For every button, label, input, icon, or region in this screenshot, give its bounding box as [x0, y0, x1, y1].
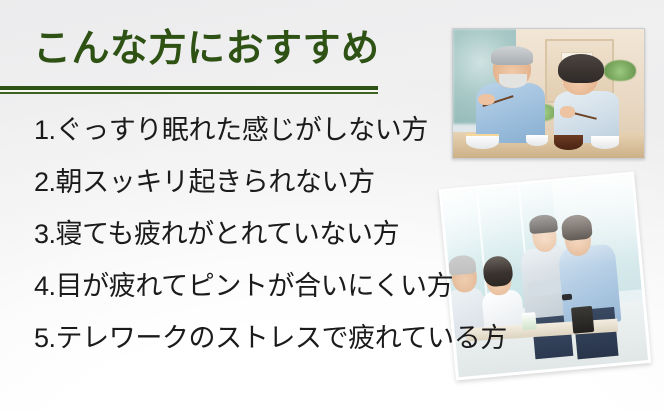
list-item: 3. 寝ても疲れがとれていない方: [0, 208, 620, 260]
underline-thin: [0, 92, 378, 94]
page-title: こんな方におすすめ: [0, 25, 400, 71]
list-item-number: 2.: [34, 156, 56, 208]
list-item-number: 3.: [34, 208, 56, 260]
list-item-label: 目が疲れてピントが合いにくい方: [56, 261, 454, 313]
list-item: 5. テレワークのストレスで疲れている方: [0, 312, 620, 364]
list-item-label: ぐっすり眠れた感じがしない方: [56, 105, 428, 157]
list-item-label: 寝ても疲れがとれていない方: [56, 209, 400, 261]
list-item-label: テレワークのストレスで疲れている方: [56, 313, 507, 365]
list-item: 4. 目が疲れてピントが合いにくい方: [0, 260, 620, 312]
title-block: こんな方におすすめ: [0, 25, 400, 71]
recommendation-list: 1. ぐっすり眠れた感じがしない方 2. 朝スッキリ起きられない方 3. 寝ても…: [0, 104, 620, 364]
recommendation-banner: こんな方におすすめ 1. ぐっすり眠れた感じがしない方 2. 朝スッキリ起きられ…: [0, 0, 664, 413]
list-item-number: 5.: [34, 312, 56, 364]
list-item-label: 朝スッキリ起きられない方: [56, 157, 375, 209]
list-item: 2. 朝スッキリ起きられない方: [0, 156, 620, 208]
title-underline: [0, 86, 378, 94]
list-item-number: 1.: [34, 104, 56, 156]
list-item: 1. ぐっすり眠れた感じがしない方: [0, 104, 620, 156]
list-item-number: 4.: [34, 260, 56, 312]
